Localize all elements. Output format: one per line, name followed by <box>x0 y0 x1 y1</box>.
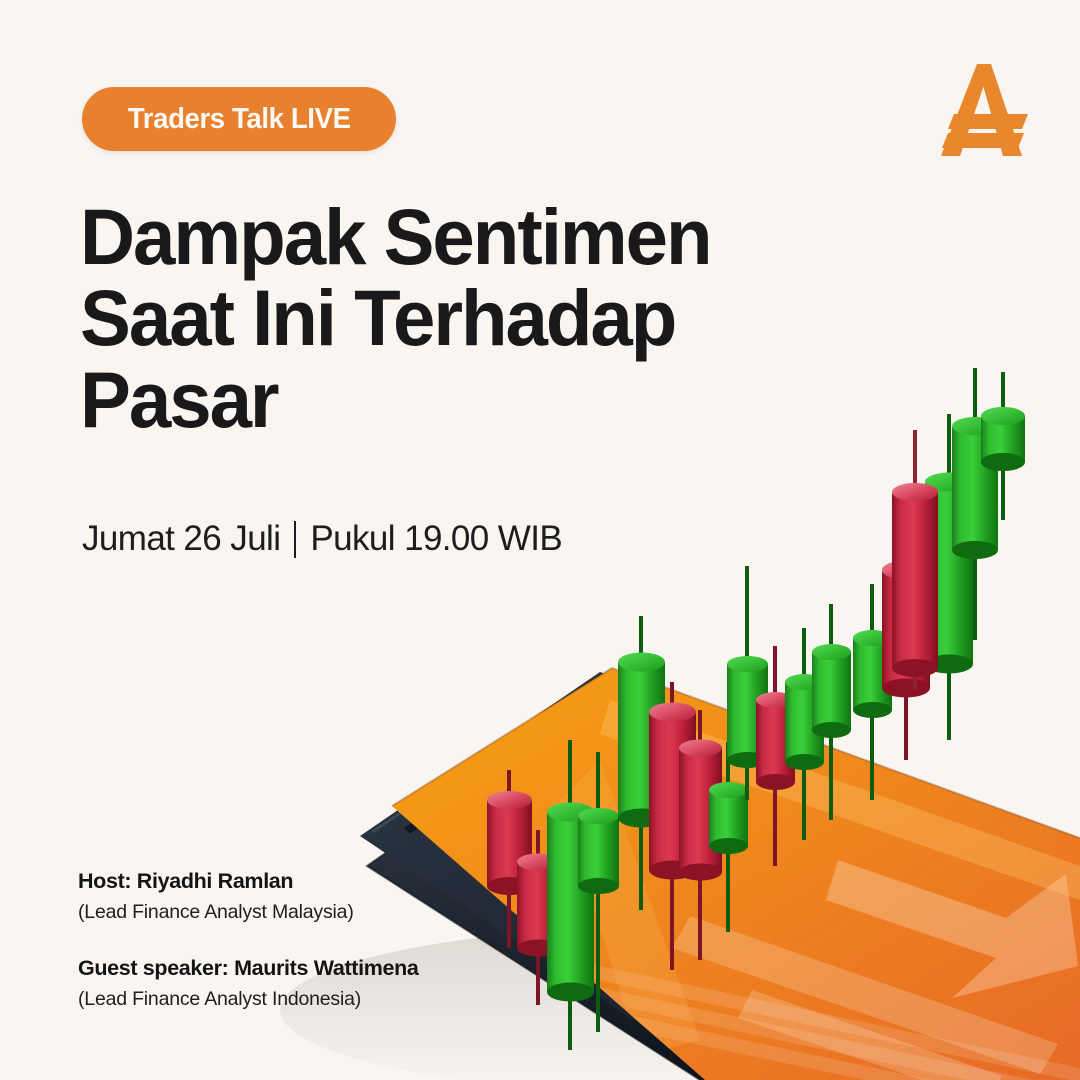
ajaib-a-logo <box>930 58 1036 162</box>
page-title: Dampak Sentimen Saat Ini Terhadap Pasar <box>80 196 800 440</box>
candle-9 <box>727 566 768 800</box>
live-badge[interactable]: Traders Talk LIVE <box>82 87 396 151</box>
candle-7 <box>679 710 722 960</box>
candle-10 <box>756 646 795 866</box>
candlestick-series <box>487 368 1025 1050</box>
schedule-date: Jumat 26 Juli <box>82 519 280 559</box>
live-badge-label: Traders Talk LIVE <box>128 103 351 136</box>
candle-8 <box>709 742 748 932</box>
candle-6 <box>649 682 696 970</box>
credit-guest: Guest speaker: Maurits Wattimena (Lead F… <box>78 955 548 1012</box>
schedule-time: Pukul 19.00 WIB <box>310 519 562 559</box>
candle-16 <box>892 430 938 690</box>
candle-14 <box>882 512 930 760</box>
credit-host: Host: Riyadhi Ramlan (Lead Finance Analy… <box>78 868 548 925</box>
headline-line-3: Pasar <box>80 359 775 440</box>
candle-15 <box>925 414 973 740</box>
candle-3 <box>547 740 594 1050</box>
credit-guest-name: Guest speaker: Maurits Wattimena <box>78 955 548 983</box>
promo-poster: Traders Talk LIVE Dampak Sentimen Saat I… <box>0 0 1080 1080</box>
candle-13 <box>853 584 892 800</box>
candle-12 <box>812 604 851 820</box>
credit-guest-role: (Lead Finance Analyst Indonesia) <box>78 986 548 1012</box>
schedule-separator <box>294 521 296 558</box>
candle-18 <box>981 372 1025 520</box>
credit-host-name: Host: Riyadhi Ramlan <box>78 868 548 896</box>
candle-5 <box>618 616 665 910</box>
candle-4 <box>578 752 619 1032</box>
credit-host-role: (Lead Finance Analyst Malaysia) <box>78 899 548 925</box>
headline-line-2: Saat Ini Terhadap <box>80 277 775 358</box>
candle-17 <box>952 368 998 640</box>
headline-line-1: Dampak Sentimen <box>80 196 775 277</box>
candle-11 <box>785 628 824 840</box>
schedule-line: Jumat 26 Juli Pukul 19.00 WIB <box>82 519 562 559</box>
speaker-credits: Host: Riyadhi Ramlan (Lead Finance Analy… <box>78 868 548 1013</box>
